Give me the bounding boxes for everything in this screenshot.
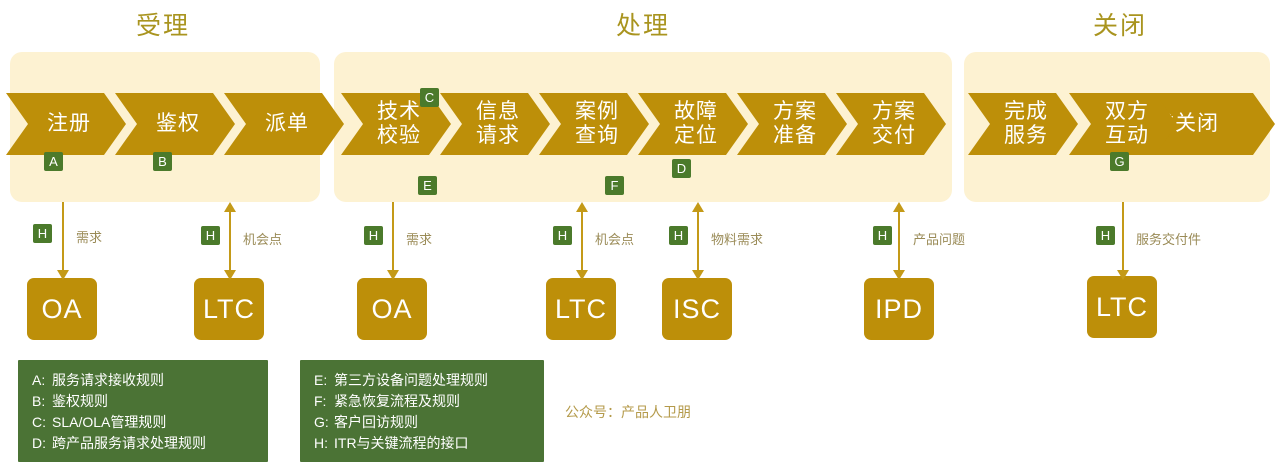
step-label-line1: 案例 — [575, 100, 619, 124]
step-label-line2: 定位 — [674, 124, 718, 148]
legend-key: D: — [32, 433, 52, 454]
system-box-oa-1[interactable]: OA — [27, 278, 97, 340]
step-label-line2: 交付 — [872, 124, 916, 148]
connector-line-ipd — [898, 208, 900, 276]
system-box-ltc-2[interactable]: LTC — [546, 278, 616, 340]
legend-item: A:服务请求接收规则 — [32, 370, 254, 391]
legend-item: G:客户回访规则 — [314, 412, 530, 433]
interface-badge-h-1[interactable]: H — [33, 224, 52, 243]
step-label-line2: 校验 — [377, 124, 421, 148]
phase-title-close: 关闭 — [1055, 6, 1185, 42]
connector-arrowhead-up-ltc-1 — [224, 202, 236, 212]
step-label-line1: 故障 — [674, 100, 718, 124]
rule-badge-d[interactable]: D — [672, 159, 691, 178]
system-box-ipd[interactable]: IPD — [864, 278, 934, 340]
legend-item: E:第三方设备问题处理规则 — [314, 370, 530, 391]
legend-text: 紧急恢复流程及规则 — [334, 393, 460, 409]
legend-text: 客户回访规则 — [334, 414, 418, 430]
system-box-ltc-1[interactable]: LTC — [194, 278, 264, 340]
legend-box-right: E:第三方设备问题处理规则 F:紧急恢复流程及规则 G:客户回访规则 H:ITR… — [300, 360, 544, 462]
connector-line-oa-1 — [62, 202, 64, 276]
connector-label-5: 物料需求 — [711, 229, 763, 248]
connector-arrowhead-down-oa-2 — [387, 270, 399, 280]
connector-arrowhead-down-oa-1 — [57, 270, 69, 280]
step-label-line1: 技术 — [377, 100, 421, 124]
step-label-line2: 查询 — [575, 124, 619, 148]
rule-badge-g[interactable]: G — [1110, 152, 1129, 171]
step-label-line2: 准备 — [773, 124, 817, 148]
interface-badge-h-3[interactable]: H — [364, 226, 383, 245]
step-label-line1: 注册 — [47, 112, 91, 136]
rule-badge-f[interactable]: F — [605, 176, 624, 195]
connector-label-3: 需求 — [406, 229, 432, 248]
system-box-oa-2[interactable]: OA — [357, 278, 427, 340]
step-label-line2: 请求 — [476, 124, 520, 148]
connector-label-7: 服务交付件 — [1136, 229, 1201, 248]
phase-title-handle: 处理 — [578, 6, 708, 42]
legend-box-left: A:服务请求接收规则 B:鉴权规则 C:SLA/OLA管理规则 D:跨产品服务请… — [18, 360, 268, 462]
connector-line-ltc-3 — [1122, 202, 1124, 276]
step-label-line2: 服务 — [1004, 124, 1048, 148]
step-label-line1: 方案 — [872, 100, 916, 124]
legend-text: 服务请求接收规则 — [52, 372, 164, 388]
interface-badge-h-7[interactable]: H — [1096, 226, 1115, 245]
legend-key: E: — [314, 370, 334, 391]
step-label-line1: 双方 — [1105, 100, 1149, 124]
interface-badge-h-6[interactable]: H — [873, 226, 892, 245]
legend-item: H:ITR与关键流程的接口 — [314, 433, 530, 454]
legend-item: B:鉴权规则 — [32, 391, 254, 412]
legend-text: 鉴权规则 — [52, 393, 108, 409]
connector-label-2: 机会点 — [243, 229, 282, 248]
system-box-isc[interactable]: ISC — [662, 278, 732, 340]
legend-text: 跨产品服务请求处理规则 — [52, 435, 206, 451]
connector-line-ltc-1 — [229, 208, 231, 276]
system-box-ltc-3[interactable]: LTC — [1087, 276, 1157, 338]
legend-key: F: — [314, 391, 334, 412]
rule-badge-c[interactable]: C — [420, 88, 439, 107]
step-label-line1: 派单 — [265, 112, 309, 136]
step-label-line1: 信息 — [476, 100, 520, 124]
legend-text: 第三方设备问题处理规则 — [334, 372, 488, 388]
connector-arrowhead-up-isc — [692, 202, 704, 212]
step-label-line1: 方案 — [773, 100, 817, 124]
diagram-canvas: 受理 处理 关闭 注册 鉴权 派单 A B 技术 校验 信息 请求 — [0, 0, 1280, 469]
legend-key: C: — [32, 412, 52, 433]
legend-text: SLA/OLA管理规则 — [52, 414, 166, 430]
legend-item: D:跨产品服务请求处理规则 — [32, 433, 254, 454]
footer-attribution: 公众号：产品人卫朋 — [565, 402, 691, 422]
phase-title-intake: 受理 — [98, 6, 228, 42]
rule-badge-e[interactable]: E — [418, 176, 437, 195]
legend-key: A: — [32, 370, 52, 391]
rule-badge-a[interactable]: A — [44, 152, 63, 171]
connector-line-isc — [697, 208, 699, 276]
step-label-line1: 鉴权 — [156, 112, 200, 136]
legend-key: B: — [32, 391, 52, 412]
legend-text: ITR与关键流程的接口 — [334, 435, 469, 451]
interface-badge-h-4[interactable]: H — [553, 226, 572, 245]
connector-arrowhead-down-ltc-1 — [224, 270, 236, 280]
connector-arrowhead-down-ltc-2 — [576, 270, 588, 280]
legend-item: C:SLA/OLA管理规则 — [32, 412, 254, 433]
connector-arrowhead-down-isc — [692, 270, 704, 280]
connector-arrowhead-down-ltc-3 — [1117, 270, 1129, 280]
legend-item: F:紧急恢复流程及规则 — [314, 391, 530, 412]
connector-label-6: 产品问题 — [913, 229, 965, 248]
rule-badge-b[interactable]: B — [153, 152, 172, 171]
step-label-line2: 互动 — [1105, 124, 1149, 148]
connector-arrowhead-up-ipd — [893, 202, 905, 212]
connector-line-ltc-2 — [581, 208, 583, 276]
legend-key: G: — [314, 412, 334, 433]
legend-key: H: — [314, 433, 334, 454]
step-label-line1: 完成 — [1004, 100, 1048, 124]
connector-line-oa-2 — [392, 202, 394, 276]
interface-badge-h-5[interactable]: H — [669, 226, 688, 245]
connector-label-4: 机会点 — [595, 229, 634, 248]
connector-arrowhead-up-ltc-2 — [576, 202, 588, 212]
connector-label-1: 需求 — [76, 227, 102, 246]
connector-arrowhead-down-ipd — [893, 270, 905, 280]
interface-badge-h-2[interactable]: H — [201, 226, 220, 245]
